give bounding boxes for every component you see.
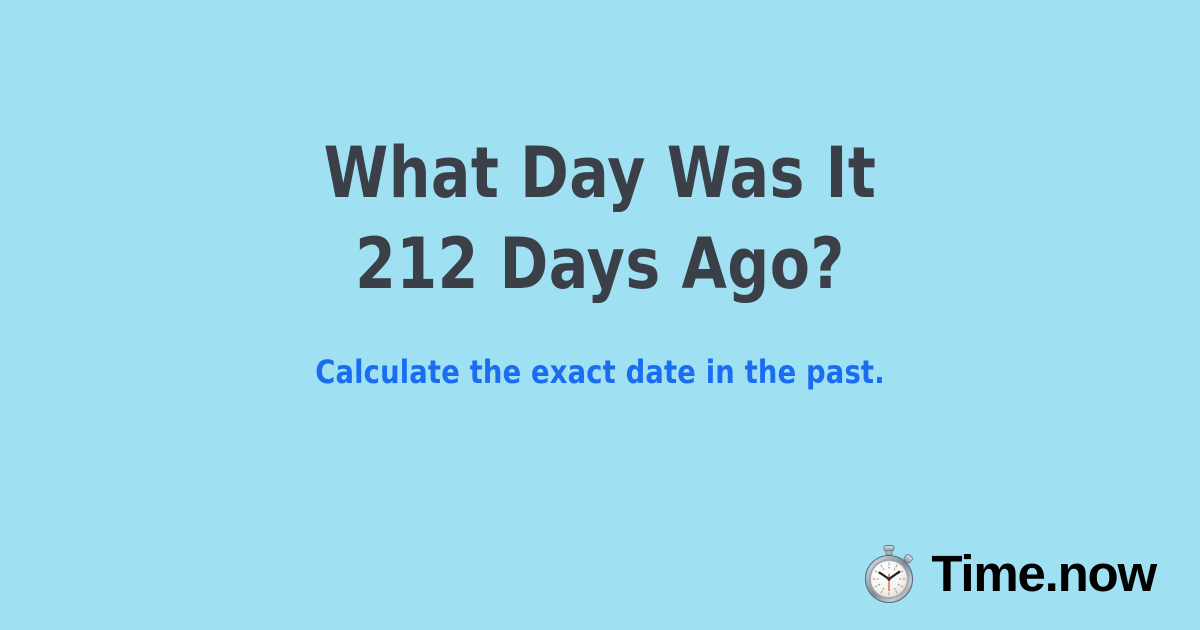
stopwatch-icon (861, 544, 917, 604)
social-share-card: What Day Was It 212 Days Ago? Calculate … (0, 0, 1200, 630)
headline-line-1: What Day Was It (42, 128, 1158, 219)
brand-wordmark: Time.now (931, 545, 1156, 603)
page-title: What Day Was It 212 Days Ago? (0, 128, 1200, 310)
headline-line-2: 212 Days Ago? (42, 219, 1158, 310)
page-subtitle: Calculate the exact date in the past. (30, 352, 1170, 392)
brand-lockup: Time.now (861, 544, 1156, 604)
